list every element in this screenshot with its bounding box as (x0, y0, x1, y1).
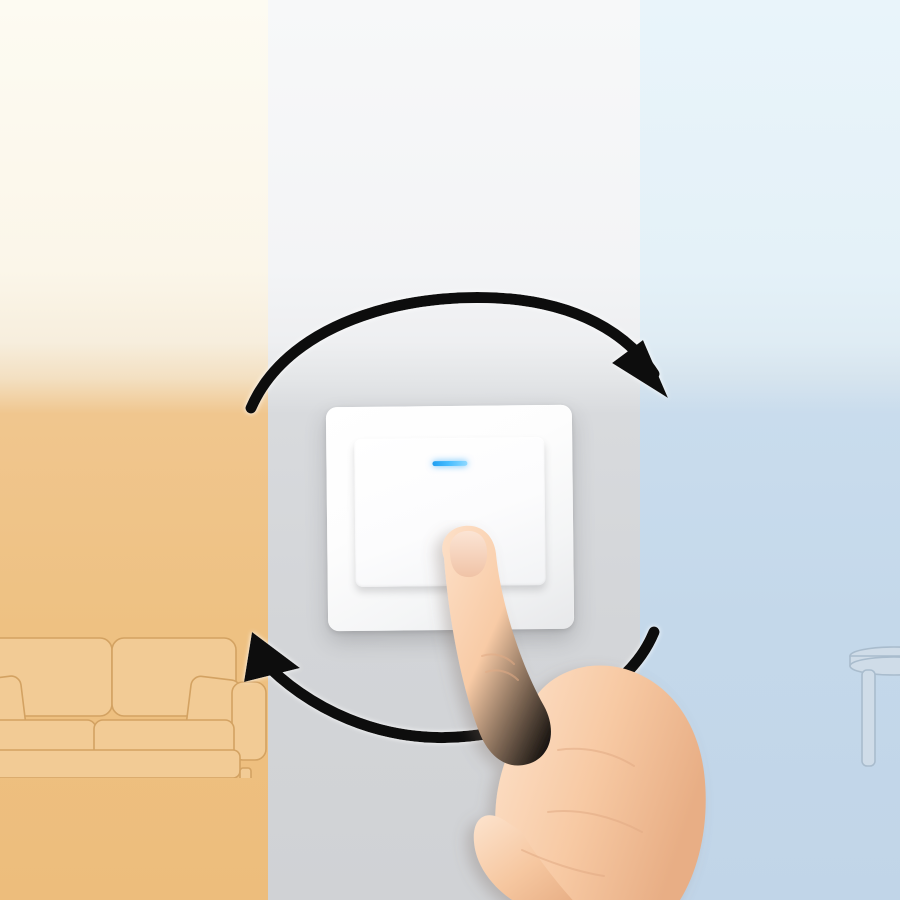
hand-pressing-switch (398, 520, 718, 900)
product-infographic: 3 CCT IN ONE CHANGE THE COLOR TEMPERATUR… (0, 0, 900, 900)
